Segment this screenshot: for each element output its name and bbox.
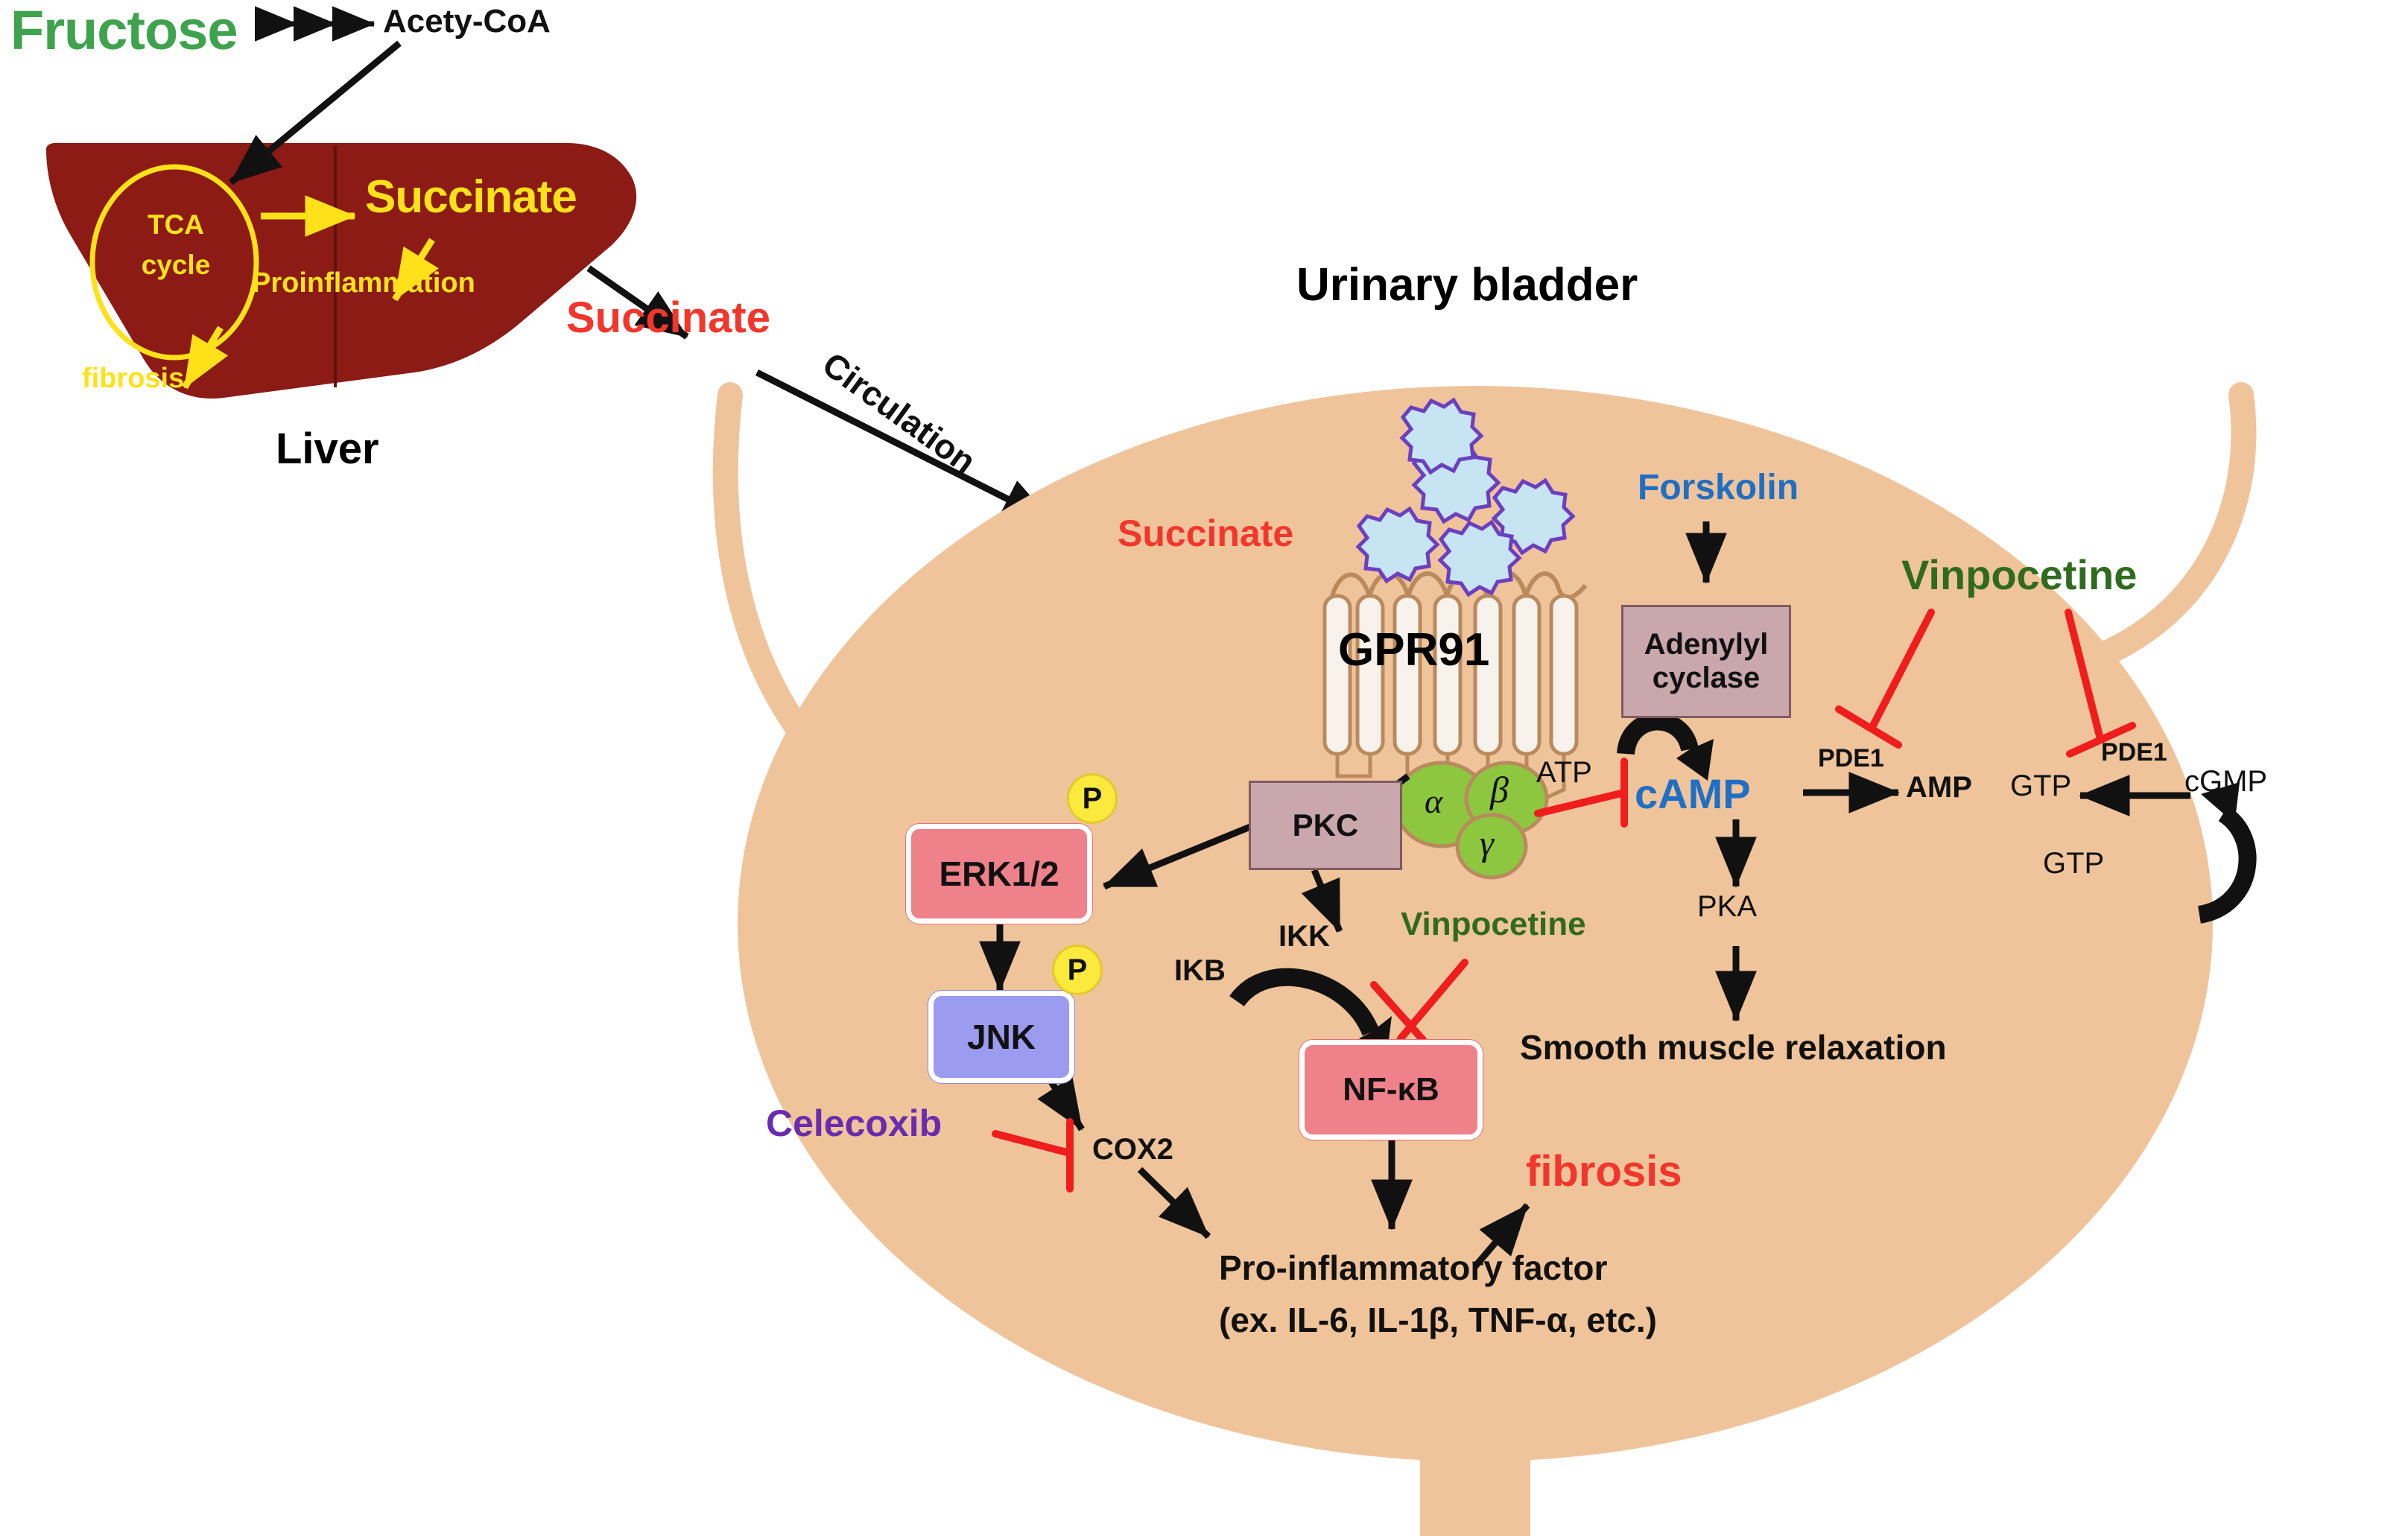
gtp-bottom-label: GTP xyxy=(2043,848,2104,879)
gtp-left-label: GTP xyxy=(2010,770,2071,802)
proinflammation-label: Proinflammation xyxy=(252,268,475,298)
phospho-p-erk: P xyxy=(1083,782,1103,816)
pde1-camp-label: PDE1 xyxy=(1818,745,1884,772)
phospho-badge-erk: P xyxy=(1067,773,1118,824)
jnk-box[interactable]: JNK xyxy=(928,991,1074,1083)
pkc-box[interactable]: PKC xyxy=(1249,781,1402,870)
celecoxib-label: Celecoxib xyxy=(766,1104,942,1143)
vinpocetine-label-nfkb: Vinpocetine xyxy=(1401,907,1586,942)
tca-cycle-line1: TCA xyxy=(112,210,240,239)
diagram-canvas xyxy=(0,0,2408,1536)
blood-succinate-label: Succinate xyxy=(566,295,770,340)
vinpocetine-label-top: Vinpocetine xyxy=(1901,553,2137,597)
ikk-label: IKK xyxy=(1279,921,1330,952)
cgmp-label: cGMP xyxy=(2184,766,2267,797)
g-alpha-label: α xyxy=(1425,784,1442,820)
erk-label: ERK1/2 xyxy=(939,854,1059,894)
jnk-label: JNK xyxy=(967,1017,1036,1057)
camp-label: cAMP xyxy=(1635,772,1751,816)
amp-label: AMP xyxy=(1906,772,1972,803)
proinflammatory-factor-line1: Pro-inflammatory factor xyxy=(1219,1250,1607,1286)
g-gamma-label: γ xyxy=(1480,825,1494,863)
forskolin-label: Forskolin xyxy=(1638,469,1799,507)
nfkb-label: NF-κB xyxy=(1343,1071,1439,1108)
fructose-label: Fructose xyxy=(10,1,238,60)
acetyl-coa-label: Acety-CoA xyxy=(383,4,551,39)
liver-fibrosis-label: fibrosis xyxy=(82,364,184,393)
gpr91-label: GPR91 xyxy=(1338,626,1489,675)
phospho-p-jnk: P xyxy=(1068,953,1088,987)
pathway-diagram: Fructose Acety-CoA TCA cycle Succinate P… xyxy=(0,0,2408,1536)
bladder-fibrosis-label: fibrosis xyxy=(1526,1149,1682,1194)
liver-organ-label: Liver xyxy=(276,426,379,472)
proinflammatory-factor-line2: (ex. IL-6, IL-1β, TNF-α, etc.) xyxy=(1219,1302,1657,1339)
phospho-badge-jnk: P xyxy=(1052,945,1103,995)
erk-box[interactable]: ERK1/2 xyxy=(906,824,1092,924)
cell-succinate-label: Succinate xyxy=(1118,514,1293,553)
ikb-label: IKB xyxy=(1174,955,1226,986)
smooth-muscle-relaxation-label: Smooth muscle relaxation xyxy=(1520,1029,1947,1066)
pka-label: PKA xyxy=(1697,891,1757,922)
liver-succinate-label: Succinate xyxy=(365,173,577,222)
nfkb-box[interactable]: NF-κB xyxy=(1299,1040,1483,1140)
adenylyl-cyclase-box[interactable]: Adenylyl cyclase xyxy=(1621,605,1791,718)
cox2-label: COX2 xyxy=(1092,1134,1173,1165)
adenylyl-cyclase-line1: Adenylyl xyxy=(1644,628,1769,661)
atp-label: ATP xyxy=(1536,757,1592,788)
g-beta-label: β xyxy=(1490,770,1509,810)
tca-cycle-line2: cycle xyxy=(112,250,240,279)
adenylyl-cyclase-line2: cyclase xyxy=(1653,661,1761,695)
pde1-cgmp-label: PDE1 xyxy=(2101,739,2167,766)
pkc-label: PKC xyxy=(1293,807,1359,843)
bladder-title: Urinary bladder xyxy=(1296,261,1638,310)
